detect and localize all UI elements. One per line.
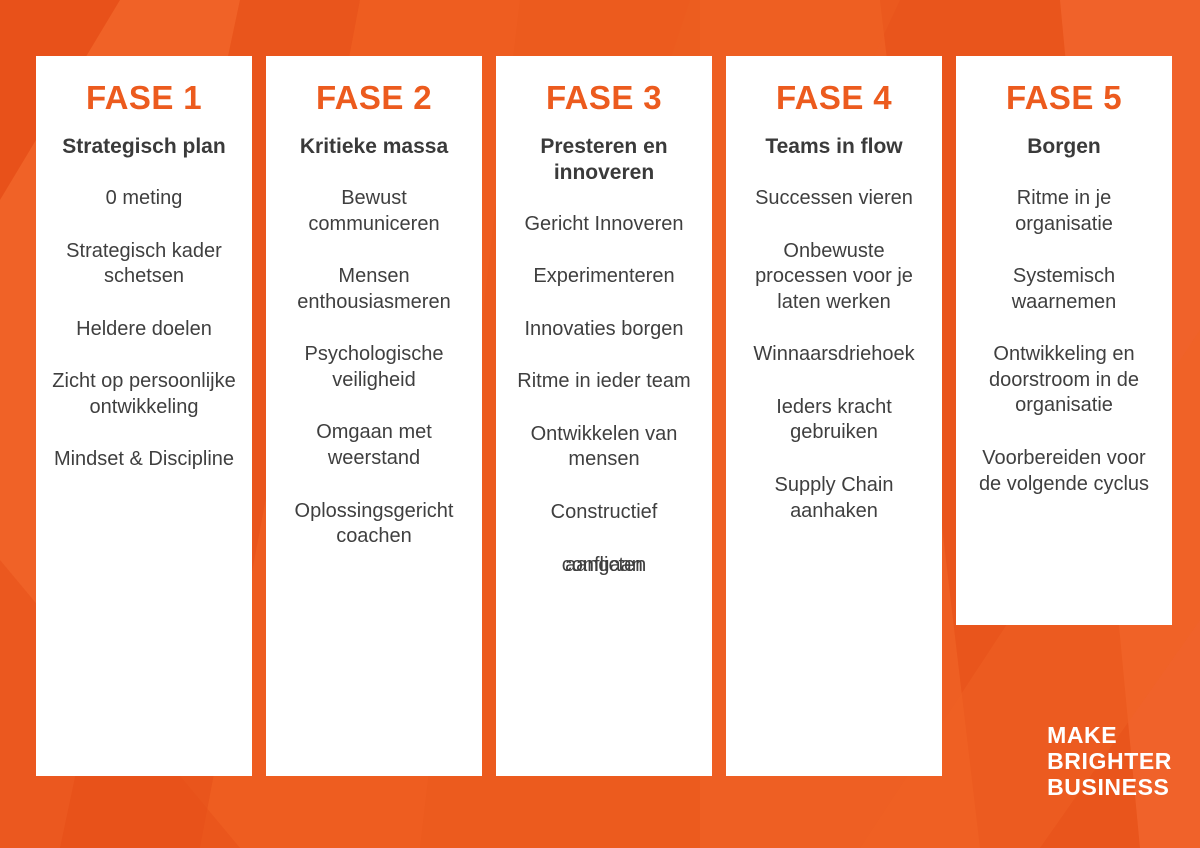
phase-card-row: FASE 1 Strategisch plan 0 meting Strateg… <box>36 56 1172 792</box>
list-item: Successen vieren <box>740 186 928 212</box>
list-item: Ritme in je organisatie <box>970 186 1158 237</box>
phase-subtitle-4: Teams in flow <box>765 134 902 160</box>
list-item: Experimenteren <box>510 264 698 290</box>
list-item: Winnaarsdriehoek <box>740 342 928 368</box>
phase-card-1[interactable]: FASE 1 Strategisch plan 0 meting Strateg… <box>36 56 252 776</box>
list-item: Ieders kracht gebruiken <box>740 395 928 446</box>
list-item: 0 meting <box>50 186 238 212</box>
logo-line-make: MAKE <box>1047 722 1172 748</box>
phase-item-list-1: 0 meting Strategisch kader schetsen Held… <box>50 186 238 473</box>
phase-subtitle-5: Borgen <box>1027 134 1101 160</box>
brand-logo: MAKE BRIGHTER BUSINESS <box>1047 722 1172 800</box>
phase-title-4: FASE 4 <box>776 80 892 116</box>
list-item: Gericht Innoveren <box>510 212 698 238</box>
list-item: Strategisch kader schetsen <box>50 239 238 290</box>
phase-item-list-2: Bewust communiceren Mensen enthousiasmer… <box>280 186 468 550</box>
overlap-line-b: aangaan <box>510 553 698 579</box>
list-item: Ontwikkelen van mensen <box>510 422 698 473</box>
list-item: Zicht op persoonlijke ontwikkeling <box>50 369 238 420</box>
phase-title-1: FASE 1 <box>86 80 202 116</box>
phase-item-list-3: Gericht Innoveren Experimenteren Innovat… <box>510 212 698 579</box>
list-item: Omgaan met weerstand <box>280 420 468 471</box>
logo-line-business: BUSINESS <box>1047 774 1172 800</box>
phase-card-4[interactable]: FASE 4 Teams in flow Successen vieren On… <box>726 56 942 776</box>
phase-title-3: FASE 3 <box>546 80 662 116</box>
list-item: Ritme in ieder team <box>510 369 698 395</box>
list-item: Heldere doelen <box>50 317 238 343</box>
overlapping-text-artifact: conflicten aangaan <box>510 553 698 579</box>
poster-canvas: FASE 1 Strategisch plan 0 meting Strateg… <box>0 0 1200 848</box>
list-item: Bewust communiceren <box>280 186 468 237</box>
list-item: Systemisch waarnemen <box>970 264 1158 315</box>
list-item: Constructief <box>510 500 698 526</box>
list-item: Mindset & Discipline <box>50 447 238 473</box>
phase-card-5[interactable]: FASE 5 Borgen Ritme in je organisatie Sy… <box>956 56 1172 625</box>
phase-subtitle-2: Kritieke massa <box>300 134 448 160</box>
list-item: Voorbereiden voor de volgende cyclus <box>970 446 1158 497</box>
logo-line-brighter: BRIGHTER <box>1047 748 1172 774</box>
phase-card-2[interactable]: FASE 2 Kritieke massa Bewust communicere… <box>266 56 482 776</box>
phase-subtitle-1: Strategisch plan <box>62 134 225 160</box>
list-item: Psychologische veiligheid <box>280 342 468 393</box>
list-item: Ontwikkeling en doorstroom in de organis… <box>970 342 1158 419</box>
phase-card-3[interactable]: FASE 3 Presteren en innoveren Gericht In… <box>496 56 712 776</box>
phase-item-list-4: Successen vieren Onbewuste processen voo… <box>740 186 928 524</box>
list-item: Supply Chain aanhaken <box>740 473 928 524</box>
list-item: Innovaties borgen <box>510 317 698 343</box>
phase-title-2: FASE 2 <box>316 80 432 116</box>
list-item: Mensen enthousiasmeren <box>280 264 468 315</box>
list-item: Oplossingsgericht coachen <box>280 499 468 550</box>
phase-subtitle-3: Presteren en innoveren <box>510 134 698 185</box>
list-item: Onbewuste processen voor je laten werken <box>740 239 928 316</box>
phase-item-list-5: Ritme in je organisatie Systemisch waarn… <box>970 186 1158 497</box>
phase-title-5: FASE 5 <box>1006 80 1122 116</box>
